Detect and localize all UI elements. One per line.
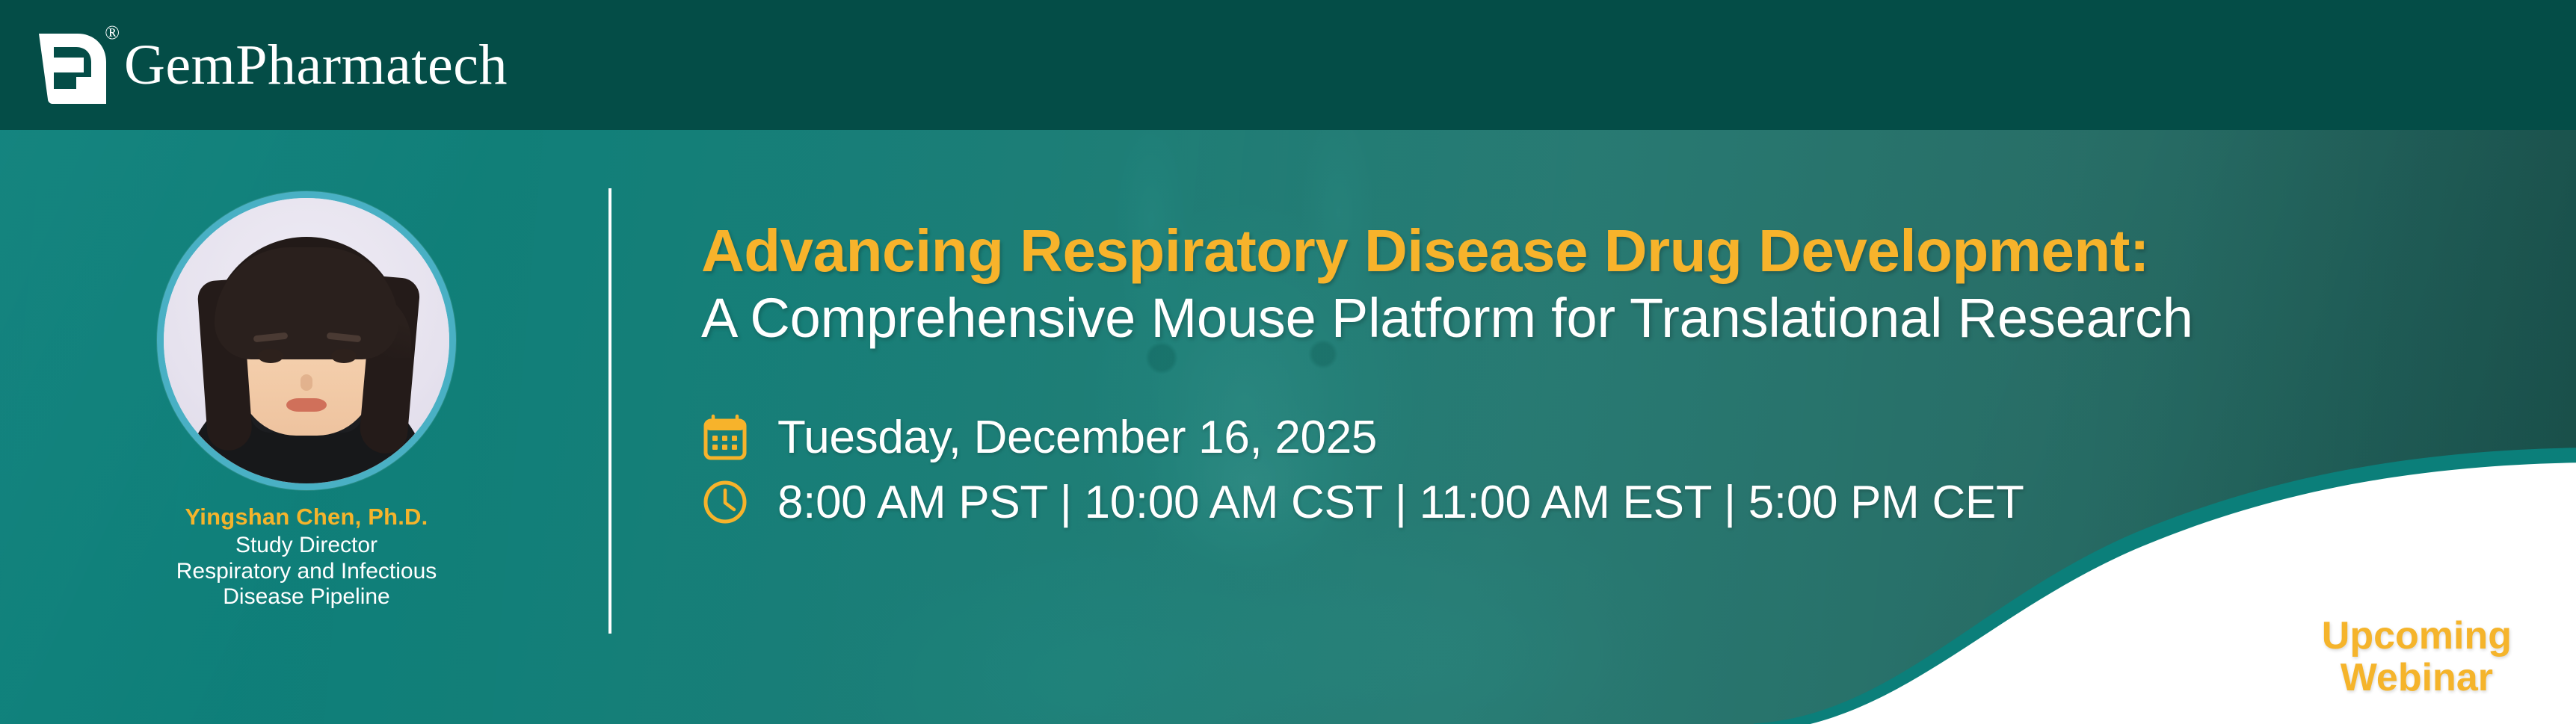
speaker-department-line-1: Respiratory and Infectious (90, 560, 523, 584)
badge-line-2: Webinar (2322, 657, 2512, 699)
avatar (157, 191, 456, 490)
brand-name: GemPharmatech (124, 37, 508, 93)
registered-trademark-symbol: ® (105, 22, 120, 44)
clock-icon (701, 478, 749, 526)
speaker-name: Yingshan Chen, Ph.D. (90, 504, 523, 530)
content-column: Advancing Respiratory Disease Drug Devel… (701, 220, 2193, 541)
status-badge: Upcoming Webinar (2322, 615, 2512, 699)
event-details: Tuesday, December 16, 2025 8:00 AM PST |… (701, 411, 2193, 529)
badge-line-1: Upcoming (2322, 615, 2512, 657)
speaker-role: Study Director (90, 533, 523, 558)
event-date-row: Tuesday, December 16, 2025 (701, 411, 2193, 464)
webinar-banner: ® GemPharmatech (0, 0, 2576, 724)
speaker-block: Yingshan Chen, Ph.D. Study Director Resp… (90, 191, 523, 610)
page-title: Advancing Respiratory Disease Drug Devel… (701, 220, 2193, 282)
event-time: 8:00 AM PST | 10:00 AM CST | 11:00 AM ES… (777, 476, 2024, 529)
event-date: Tuesday, December 16, 2025 (777, 411, 1377, 464)
calendar-icon (701, 413, 749, 461)
vertical-divider (608, 188, 611, 634)
gem-g-mark-icon: ® (34, 26, 108, 104)
brand-header-bar: ® GemPharmatech (0, 0, 2576, 130)
event-time-row: 8:00 AM PST | 10:00 AM CST | 11:00 AM ES… (701, 476, 2193, 529)
banner-stage: Yingshan Chen, Ph.D. Study Director Resp… (0, 130, 2576, 724)
page-subtitle: A Comprehensive Mouse Platform for Trans… (701, 289, 2193, 347)
brand-logo[interactable]: ® GemPharmatech (34, 26, 508, 104)
speaker-department-line-2: Disease Pipeline (90, 585, 523, 609)
